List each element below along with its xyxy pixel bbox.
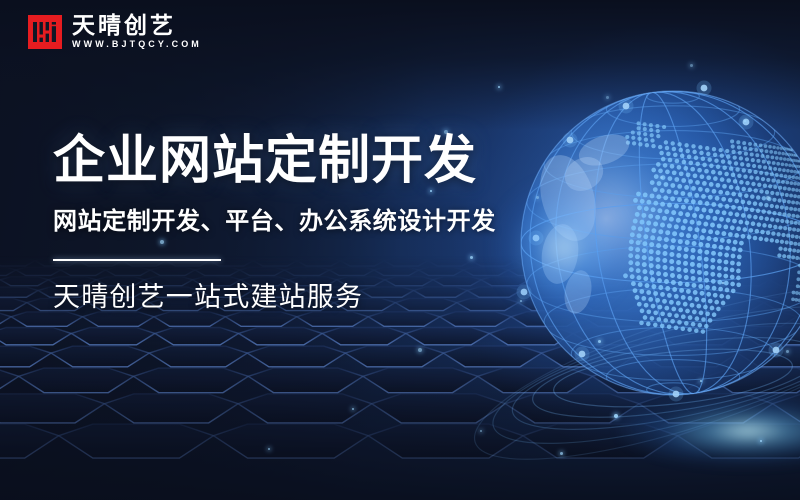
hero-subtitle: 网站定制开发、平台、办公系统设计开发 (53, 208, 496, 237)
brand-logo[interactable]: 天晴创艺 WWW.BJTQCY.COM (28, 14, 202, 49)
hero-copy-block: 企业网站定制开发 网站定制开发、平台、办公系统设计开发 天晴创艺一站式建站服务 (53, 134, 496, 313)
hero-divider (53, 259, 221, 261)
promotional-banner: 天晴创艺 WWW.BJTQCY.COM 企业网站定制开发 网站定制开发、平台、办… (0, 0, 800, 500)
digital-globe-icon (508, 78, 800, 408)
page-title: 企业网站定制开发 (53, 134, 496, 190)
hero-tagline: 天晴创艺一站式建站服务 (53, 281, 496, 313)
logo-mark-icon (28, 15, 62, 49)
logo-website-url: WWW.BJTQCY.COM (72, 40, 202, 49)
logo-company-name: 天晴创艺 (72, 14, 202, 37)
